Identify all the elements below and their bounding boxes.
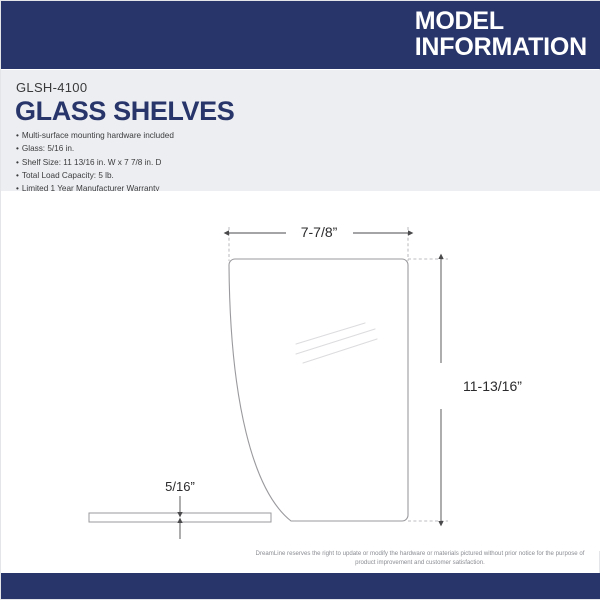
side-view-profile: 5/16” bbox=[89, 479, 271, 539]
spec-item: Total Load Capacity: 5 lb. bbox=[16, 169, 174, 182]
header-title: MODEL INFORMATION bbox=[415, 8, 587, 60]
thickness-dimension-label: 5/16” bbox=[165, 479, 195, 494]
height-dimension: 11-13/16” bbox=[441, 259, 522, 521]
disclaimer-text: DreamLine reserves the right to update o… bbox=[255, 549, 585, 567]
spec-item: Glass: 5/16 in. bbox=[16, 142, 174, 155]
glass-shelf-outline bbox=[229, 259, 408, 521]
spec-item: Shelf Size: 11 13/16 in. W x 7 7/8 in. D bbox=[16, 156, 174, 169]
technical-drawing: 7-7/8” 11-13/16” 5/16” bbox=[1, 191, 600, 551]
model-information-sheet: MODEL INFORMATION GLSH-4100 GLASS SHELVE… bbox=[0, 0, 600, 600]
glass-thickness-bar bbox=[89, 513, 271, 522]
header-band: MODEL INFORMATION bbox=[1, 1, 600, 69]
header-title-line2: INFORMATION bbox=[415, 34, 587, 60]
height-dimension-label: 11-13/16” bbox=[463, 378, 522, 394]
header-title-line1: MODEL bbox=[415, 7, 504, 35]
specification-band: GLSH-4100 GLASS SHELVES Multi-surface mo… bbox=[1, 70, 600, 191]
specification-list: Multi-surface mounting hardware included… bbox=[16, 129, 174, 195]
width-dimension-label: 7-7/8” bbox=[301, 224, 338, 240]
width-dimension: 7-7/8” bbox=[229, 224, 408, 240]
spec-item: Multi-surface mounting hardware included bbox=[16, 129, 174, 142]
product-title: GLASS SHELVES bbox=[15, 96, 234, 127]
footer-band bbox=[1, 573, 600, 599]
model-number: GLSH-4100 bbox=[16, 80, 87, 95]
